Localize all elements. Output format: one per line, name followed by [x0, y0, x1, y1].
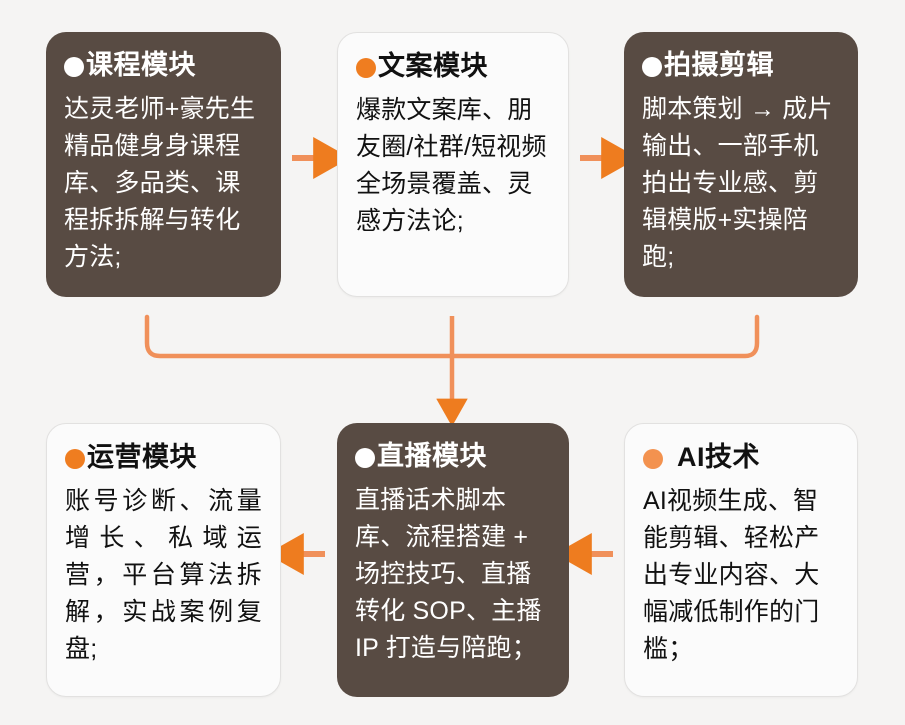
card-title: 直播模块	[355, 441, 551, 472]
card-operations-module[interactable]: 运营模块 账号诊断、流量增长、私域运营，平台算法拆解，实战案例复盘;	[46, 423, 281, 697]
card-title-text: 运营模块	[87, 442, 197, 473]
card-title: 运营模块	[65, 442, 262, 473]
card-ai-technology[interactable]: AI技术 AI视频生成、智能剪辑、轻松产出专业内容、大幅减低制作的门槛；	[624, 423, 858, 697]
bracket-down-arrow-icon	[147, 316, 757, 400]
card-title-text: 拍摄剪辑	[664, 50, 774, 81]
bullet-circle-icon	[64, 57, 84, 77]
bullet-circle-icon	[65, 449, 85, 469]
bullet-circle-icon	[356, 58, 376, 78]
bullet-circle-icon	[642, 57, 662, 77]
card-body-text: 脚本策划 → 成片输出、一部手机拍出专业感、剪辑模版+实操陪跑;	[642, 91, 840, 276]
diagram-canvas: 课程模块 达灵老师+豪先生精品健身身课程库、多品类、课程拆拆解与转化方法; 文案…	[0, 0, 905, 725]
card-course-module[interactable]: 课程模块 达灵老师+豪先生精品健身身课程库、多品类、课程拆拆解与转化方法;	[46, 32, 281, 297]
bullet-circle-icon	[355, 448, 375, 468]
card-livestream-module[interactable]: 直播模块 直播话术脚本库、流程搭建 + 场控技巧、直播转化 SOP、主播 IP …	[337, 423, 569, 697]
card-title-text: 文案模块	[378, 51, 488, 82]
card-body-text: 直播话术脚本库、流程搭建 + 场控技巧、直播转化 SOP、主播 IP 打造与陪跑…	[355, 482, 551, 667]
bullet-circle-icon	[643, 449, 663, 469]
card-title: 课程模块	[64, 50, 263, 81]
card-shooting-editing[interactable]: 拍摄剪辑 脚本策划 → 成片输出、一部手机拍出专业感、剪辑模版+实操陪跑;	[624, 32, 858, 297]
card-body-text: AI视频生成、智能剪辑、轻松产出专业内容、大幅减低制作的门槛；	[643, 483, 839, 668]
card-title-text: 直播模块	[377, 441, 487, 472]
card-body-text: 爆款文案库、朋友圈/社群/短视频全场景覆盖、灵感方法论;	[356, 92, 550, 240]
card-title-text: AI技术	[677, 442, 760, 473]
card-body-text: 账号诊断、流量增长、私域运营，平台算法拆解，实战案例复盘;	[65, 483, 262, 668]
card-copywriting-module[interactable]: 文案模块 爆款文案库、朋友圈/社群/短视频全场景覆盖、灵感方法论;	[337, 32, 569, 297]
card-title: AI技术	[643, 442, 839, 473]
card-body-text: 达灵老师+豪先生精品健身身课程库、多品类、课程拆拆解与转化方法;	[64, 91, 263, 276]
card-title: 拍摄剪辑	[642, 50, 840, 81]
card-title: 文案模块	[356, 51, 550, 82]
card-title-text: 课程模块	[86, 50, 196, 81]
